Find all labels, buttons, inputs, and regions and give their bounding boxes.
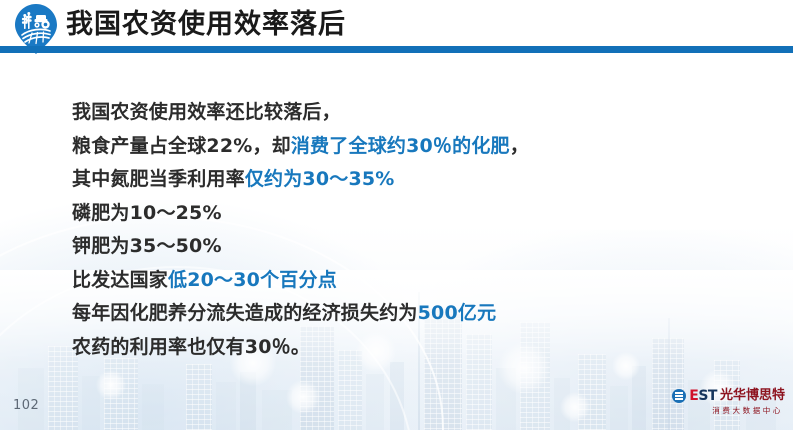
corp-name-chinese: 光华博思特: [720, 389, 785, 403]
body-line: 粮食产量占全球22%，却消费了全球约30％的化肥，: [72, 130, 732, 164]
body-line: 比发达国家低20～30个百分点: [72, 264, 732, 298]
slide: 我国农资使用效率落后 我国农资使用效率还比较落后，粮食产量占全球22%，却消费了…: [0, 0, 793, 430]
corporate-logo: EST 光华博思特 消费大数据中心: [663, 388, 785, 422]
body-line: 钾肥为35～50%: [72, 230, 732, 264]
page-number: 102: [13, 398, 39, 413]
corp-est-text: EST: [689, 389, 717, 403]
body-text-segment: ，: [510, 135, 529, 157]
body-line: 农药的利用率也仅有30％。: [72, 331, 732, 365]
body-text-segment: 其中氮肥当季利用率: [72, 168, 245, 190]
body-line: 我国农资使用效率还比较落后，: [72, 96, 732, 130]
corp-e-letter: E: [689, 388, 698, 404]
body-text-segment: 粮食产量占全球22%，却: [72, 135, 291, 157]
body-text-segment: 比发达国家: [72, 269, 168, 291]
body-text-segment: 磷肥为10～25%: [72, 202, 222, 224]
body-text-segment: 钾肥为35～50%: [72, 235, 222, 257]
body-line: 其中氮肥当季利用率仅约为30～35%: [72, 163, 732, 197]
highlighted-text: 消费了全球约30％的化肥: [291, 135, 510, 157]
slide-body-text: 我国农资使用效率还比较落后，粮食产量占全球22%，却消费了全球约30％的化肥，其…: [72, 96, 732, 364]
body-line: 磷肥为10～25%: [72, 197, 732, 231]
body-text-segment: 农药的利用率也仅有30％。: [72, 336, 310, 358]
page-title: 我国农资使用效率落后: [66, 6, 346, 44]
best-circle-icon: [672, 389, 686, 403]
corp-subtitle: 消费大数据中心: [663, 405, 785, 417]
corp-st-letters: ST: [698, 388, 717, 404]
body-line: 每年因化肥养分流失造成的经济损失约为500亿元: [72, 297, 732, 331]
header-divider: [0, 46, 793, 53]
highlighted-text: 低20～30个百分点: [168, 269, 337, 291]
body-text-segment: 每年因化肥养分流失造成的经济损失约为: [72, 302, 418, 324]
highlighted-text: 500亿元: [418, 302, 497, 324]
body-text-segment: 我国农资使用效率还比较落后，: [72, 101, 341, 123]
highlighted-text: 仅约为30～35%: [245, 168, 395, 190]
slide-header: 我国农资使用效率落后: [0, 0, 793, 54]
